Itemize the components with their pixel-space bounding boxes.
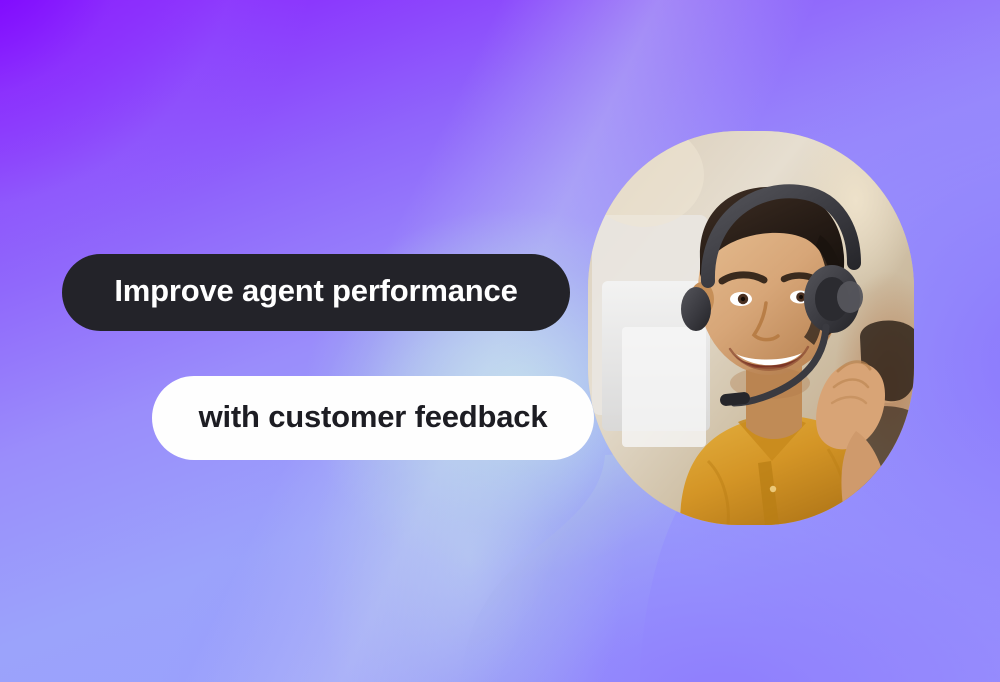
- headline-bubble-secondary: with customer feedback: [152, 376, 594, 460]
- promo-banner: Improve agent performance with customer …: [0, 0, 1000, 682]
- agent-photo-illustration: [588, 131, 914, 525]
- headline-bubble-primary: Improve agent performance: [62, 254, 570, 331]
- agent-photo: [588, 131, 914, 525]
